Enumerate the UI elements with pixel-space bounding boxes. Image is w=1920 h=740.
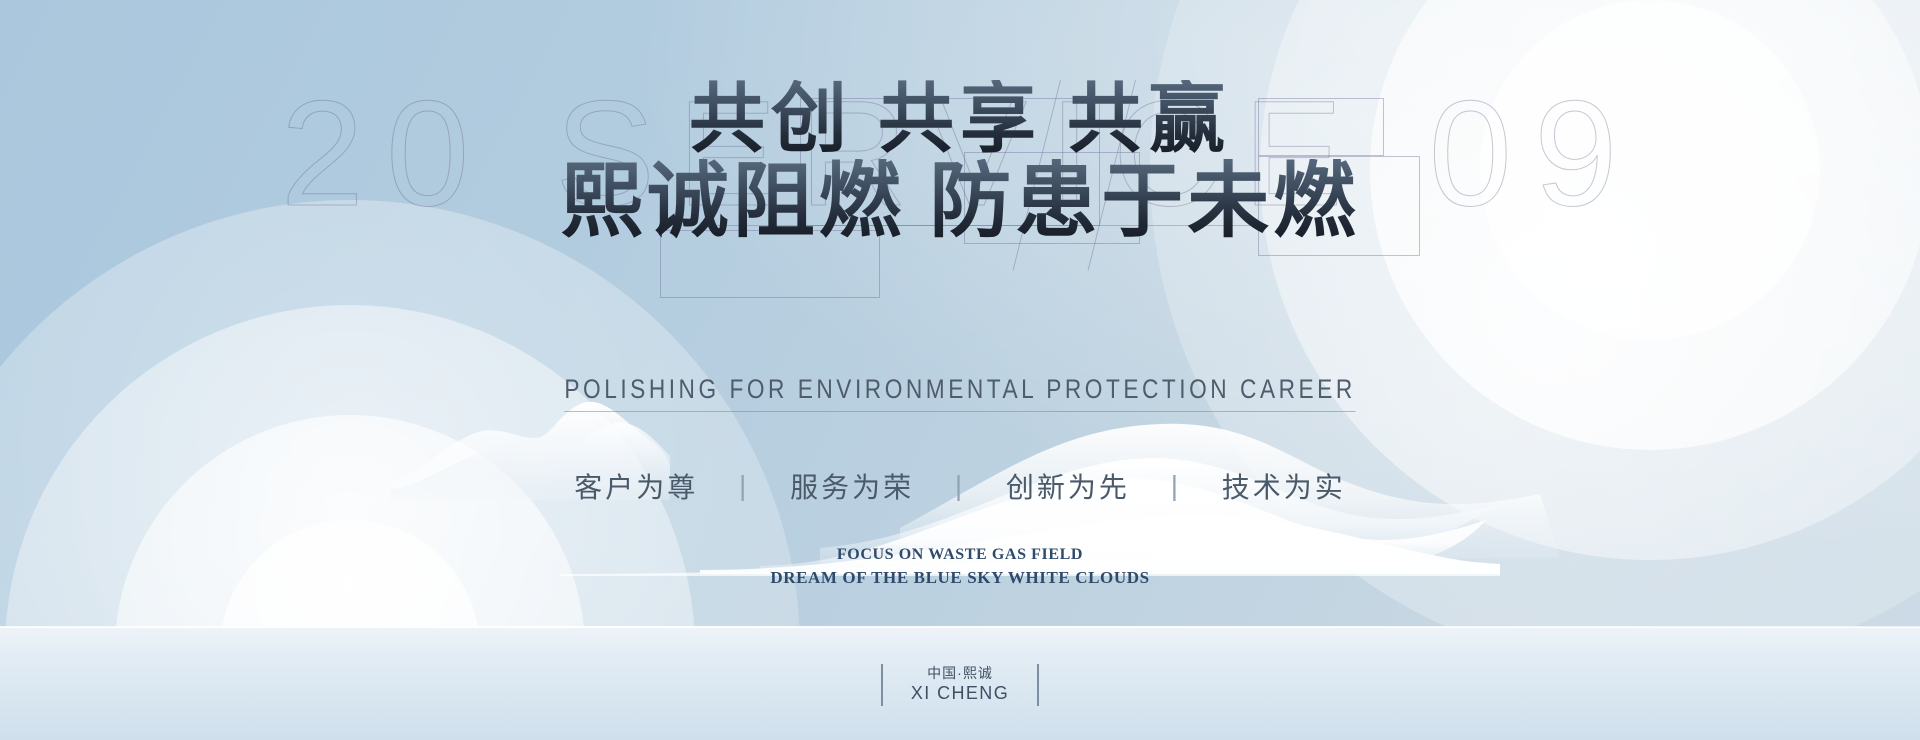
brand-logo-lockup: 中国·熙诚 XI CHENG [0,664,1920,706]
logo-text-group: 中国·熙诚 XI CHENG [911,664,1009,706]
logo-divider-left [881,664,883,706]
headline-line-1: 共创 共享 共赢 [0,80,1920,161]
value-item-1: 客户为尊 [574,466,698,506]
value-item-4: 技术为实 [1222,466,1346,506]
headline-block: 共创 共享 共赢 熙诚阻燃 防患于未燃 [0,80,1920,245]
english-tagline: POLISHING FOR ENVIRONMENTAL PROTECTION C… [564,374,1355,412]
promo-banner: 20 SERVICE 09 [0,0,1920,740]
cloud-wave-decoration [0,388,1920,648]
serif-subtitle-block: FOCUS ON WASTE GAS FIELD DREAM OF THE BL… [0,543,1920,591]
serif-subtitle-line-2: DREAM OF THE BLUE SKY WHITE CLOUDS [0,566,1920,591]
value-separator-3: | [1171,470,1181,502]
value-separator-1: | [739,470,749,502]
headline-line-2: 熙诚阻燃 防患于未燃 [0,159,1920,246]
logo-divider-right [1037,664,1039,706]
value-item-3: 创新为先 [1006,466,1130,506]
logo-name-en: XI CHENG [911,682,1009,706]
value-separator-2: | [955,470,965,502]
logo-name-cn: 中国·熙诚 [911,664,1009,682]
value-item-2: 服务为荣 [790,466,914,506]
values-row: 客户为尊 | 服务为荣 | 创新为先 | 技术为实 [0,466,1920,506]
serif-subtitle-line-1: FOCUS ON WASTE GAS FIELD [0,543,1920,566]
tagline-wrapper: POLISHING FOR ENVIRONMENTAL PROTECTION C… [0,374,1920,412]
